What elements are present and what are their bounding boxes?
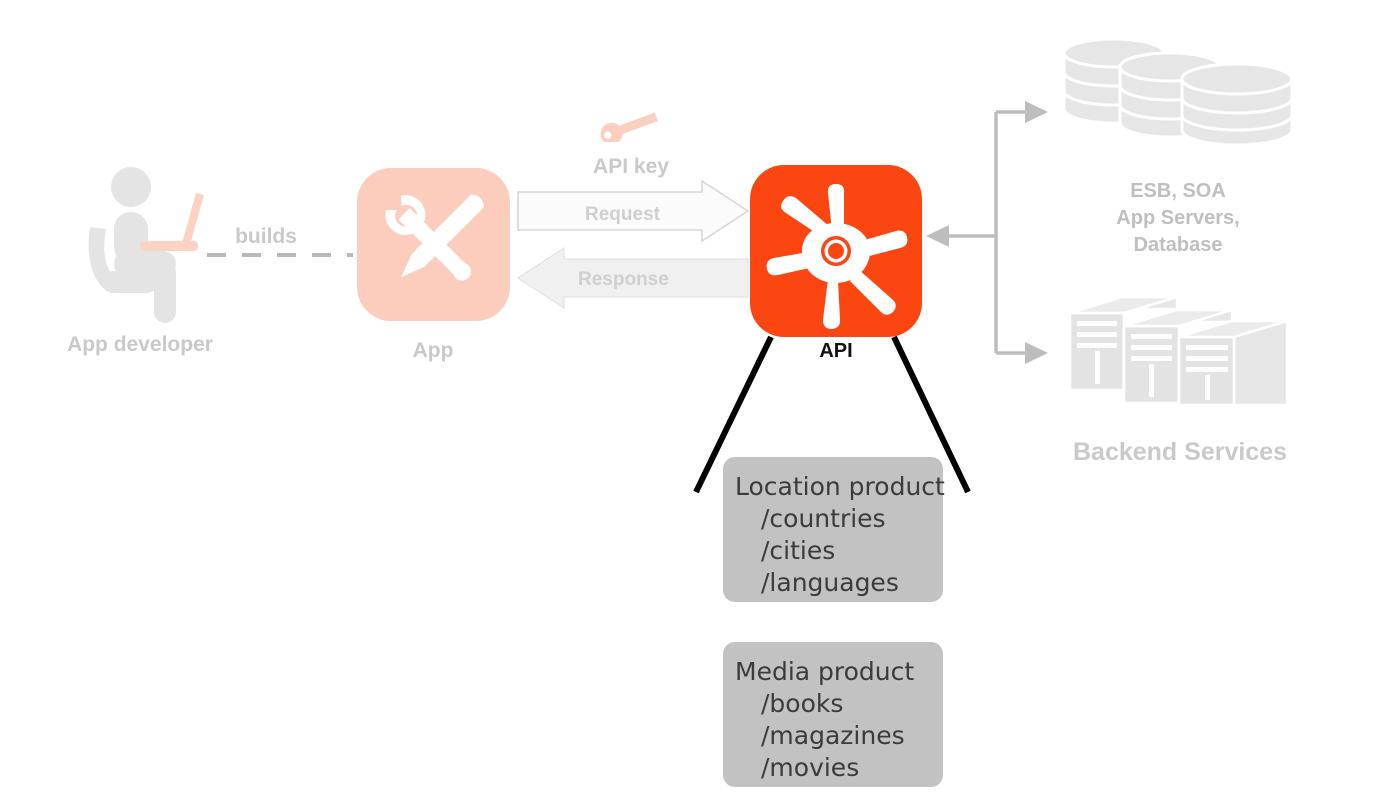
api-tile[interactable] xyxy=(750,165,922,337)
request-label: Request xyxy=(585,204,660,226)
location-product-path-2: /languages xyxy=(735,567,925,599)
wrench-and-pencil-icon xyxy=(357,168,510,321)
api-key-label: API key xyxy=(546,155,716,179)
location-product-box[interactable]: Location product /countries /cities /lan… xyxy=(723,457,943,602)
app-label: App xyxy=(353,339,513,363)
location-product-path-0: /countries xyxy=(735,503,925,535)
app-developer-label: App developer xyxy=(20,333,260,357)
server-racks-icon xyxy=(1062,293,1292,415)
api-splat-star-icon xyxy=(750,165,922,337)
media-product-title: Media product xyxy=(735,656,925,688)
response-label: Response xyxy=(578,269,669,291)
key-icon xyxy=(595,110,665,142)
builds-dashed-connector xyxy=(205,248,355,262)
location-product-title: Location product xyxy=(735,471,925,503)
media-product-path-2: /movies xyxy=(735,752,925,784)
backend-branch-connectors xyxy=(920,95,1060,370)
datastore-caption-line-1: ESB, SOA xyxy=(1058,178,1298,205)
backend-services-label: Backend Services xyxy=(1040,438,1320,467)
datastore-caption-line-2: App Servers, xyxy=(1058,205,1298,232)
app-tile[interactable] xyxy=(357,168,510,321)
media-product-box[interactable]: Media product /books /magazines /movies xyxy=(723,642,943,787)
datastore-caption: ESB, SOA App Servers, Database xyxy=(1058,178,1298,259)
media-product-path-0: /books xyxy=(735,688,925,720)
location-product-path-1: /cities xyxy=(735,535,925,567)
datastore-caption-line-3: Database xyxy=(1058,232,1298,259)
media-product-path-1: /magazines xyxy=(735,720,925,752)
diagram-canvas: App developer builds App xyxy=(0,0,1382,810)
database-cylinders-icon xyxy=(1058,35,1298,145)
builds-label: builds xyxy=(196,225,336,249)
